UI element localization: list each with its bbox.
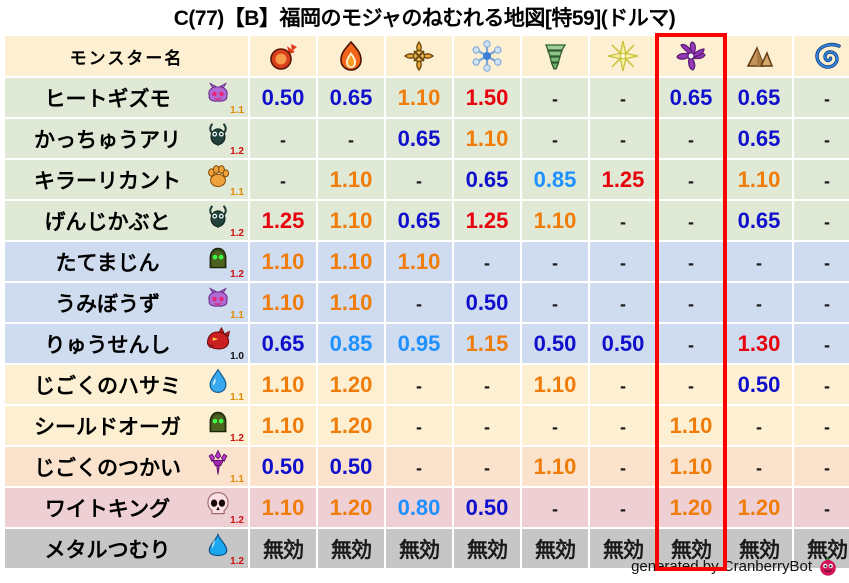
monster-name-cell[interactable]: シールドオーガ1.2 xyxy=(5,406,248,445)
monster-name-label: かっちゅうアリ xyxy=(13,124,202,154)
resistance-cell: 1.10 xyxy=(318,160,384,199)
resistance-value: - xyxy=(620,376,626,396)
resistance-cell: - xyxy=(522,283,588,322)
resistance-cell: 1.15 xyxy=(454,324,520,363)
resistance-cell: - xyxy=(658,283,724,322)
monster-version-label: 1.1 xyxy=(230,188,244,198)
resistance-cell: - xyxy=(250,160,316,199)
resistance-cell: 1.25 xyxy=(590,160,656,199)
monster-badge: 1.0 xyxy=(202,326,244,362)
resistance-value: - xyxy=(620,212,626,232)
resistance-value: - xyxy=(620,294,626,314)
resistance-value: - xyxy=(620,130,626,150)
resistance-cell: 1.10 xyxy=(522,447,588,486)
resistance-value: - xyxy=(280,171,286,191)
resistance-table: モンスター名 ヒートギズモ1.10.500.651.101.50--0.650.… xyxy=(3,34,849,570)
table-row: りゅうせんし1.00.650.850.951.150.500.50-1.30- xyxy=(5,324,849,363)
resistance-cell: 無効 xyxy=(454,529,520,568)
resistance-cell: - xyxy=(522,119,588,158)
resistance-value: - xyxy=(756,458,762,478)
resistance-value: 1.50 xyxy=(466,85,509,110)
table-row: ヒートギズモ1.10.500.651.101.50--0.650.65- xyxy=(5,78,849,117)
resistance-value: 無効 xyxy=(399,539,439,562)
resistance-value: 0.65 xyxy=(330,85,373,110)
monster-name-label: キラーリカント xyxy=(13,165,202,195)
resistance-value: 1.20 xyxy=(330,372,373,397)
resistance-cell: - xyxy=(794,447,849,486)
resistance-cell: - xyxy=(794,160,849,199)
table-body: ヒートギズモ1.10.500.651.101.50--0.650.65-かっちゅ… xyxy=(5,78,849,568)
resistance-cell: - xyxy=(794,119,849,158)
resistance-value: 1.10 xyxy=(330,290,373,315)
monster-name-label: たてまじん xyxy=(13,247,202,277)
resistance-cell: 1.10 xyxy=(250,283,316,322)
resistance-cell: 1.20 xyxy=(318,365,384,404)
resistance-value: - xyxy=(824,89,830,109)
resistance-value: 1.20 xyxy=(330,495,373,520)
resistance-cell: - xyxy=(454,406,520,445)
resistance-value: 0.95 xyxy=(398,331,441,356)
resistance-value: 0.80 xyxy=(398,495,441,520)
resistance-cell: - xyxy=(658,242,724,281)
monster-name-cell[interactable]: かっちゅうアリ1.2 xyxy=(5,119,248,158)
table-header-row: モンスター名 xyxy=(5,36,849,76)
resistance-value: 0.65 xyxy=(670,85,713,110)
resistance-cell: - xyxy=(522,78,588,117)
resistance-cell: 無効 xyxy=(522,529,588,568)
resistance-cell: - xyxy=(794,365,849,404)
monster-version-label: 1.2 xyxy=(230,434,244,444)
resistance-cell: - xyxy=(522,242,588,281)
resistance-cell: 0.65 xyxy=(726,119,792,158)
resistance-value: - xyxy=(552,253,558,273)
resistance-value: - xyxy=(824,417,830,437)
resistance-cell: 1.10 xyxy=(318,283,384,322)
resistance-cell: 1.25 xyxy=(454,201,520,240)
dorma-icon xyxy=(658,40,724,72)
resistance-cell: - xyxy=(794,406,849,445)
resistance-value: - xyxy=(620,417,626,437)
resistance-cell: - xyxy=(726,283,792,322)
monster-badge: 1.2 xyxy=(202,203,244,239)
header-element-tornado-icon[interactable] xyxy=(522,36,588,76)
table-row: かっちゅうアリ1.2--0.651.10---0.65- xyxy=(5,119,849,158)
resistance-cell: 0.50 xyxy=(522,324,588,363)
header-element-dorma-icon[interactable] xyxy=(658,36,724,76)
resistance-cell: 1.10 xyxy=(318,242,384,281)
footer: generated by CranberryBot xyxy=(631,555,839,577)
resistance-value: 1.10 xyxy=(534,208,577,233)
resistance-cell: 1.10 xyxy=(250,488,316,527)
resistance-cell: - xyxy=(794,201,849,240)
resistance-cell: - xyxy=(726,242,792,281)
monster-name-cell[interactable]: メタルつむり1.2 xyxy=(5,529,248,568)
resistance-cell: - xyxy=(794,78,849,117)
resistance-value: - xyxy=(688,294,694,314)
monster-version-label: 1.0 xyxy=(230,352,244,362)
resistance-cell: 0.80 xyxy=(386,488,452,527)
resistance-value: - xyxy=(416,294,422,314)
resistance-value: 0.50 xyxy=(466,495,509,520)
monster-version-label: 1.2 xyxy=(230,270,244,280)
resistance-cell: 0.50 xyxy=(250,447,316,486)
header-element-meteor-icon[interactable] xyxy=(250,36,316,76)
resistance-cell: - xyxy=(590,406,656,445)
resistance-value: 0.50 xyxy=(262,454,305,479)
resistance-cell: 1.20 xyxy=(318,406,384,445)
resistance-cell: - xyxy=(522,488,588,527)
resistance-value: - xyxy=(348,130,354,150)
resistance-value: 1.20 xyxy=(670,495,713,520)
resistance-cell: 1.20 xyxy=(658,488,724,527)
monster-name-label: りゅうせんし xyxy=(13,329,202,359)
resistance-cell: 1.10 xyxy=(522,365,588,404)
resistance-value: - xyxy=(688,171,694,191)
monster-badge: 1.1 xyxy=(202,162,244,198)
resistance-value: - xyxy=(824,171,830,191)
table-row: じごくのつかい1.10.500.50--1.10-1.10-- xyxy=(5,447,849,486)
resistance-value: - xyxy=(824,499,830,519)
resistance-cell: 0.65 xyxy=(250,324,316,363)
monster-version-label: 1.1 xyxy=(230,393,244,403)
resistance-value: 1.10 xyxy=(670,413,713,438)
monster-version-label: 1.2 xyxy=(230,557,244,567)
resistance-value: - xyxy=(416,171,422,191)
resistance-value: 0.65 xyxy=(738,126,781,151)
monster-version-label: 1.1 xyxy=(230,106,244,116)
header-element-explosion-icon[interactable] xyxy=(386,36,452,76)
resistance-value: 1.10 xyxy=(738,167,781,192)
resistance-cell: - xyxy=(794,242,849,281)
header-element-mountain-icon[interactable] xyxy=(726,36,792,76)
resistance-cell: 0.50 xyxy=(454,488,520,527)
resistance-value: - xyxy=(824,458,830,478)
resistance-cell: - xyxy=(590,201,656,240)
table-row: うみぼうず1.11.101.10-0.50----- xyxy=(5,283,849,322)
resistance-value: 0.50 xyxy=(262,85,305,110)
resistance-value: - xyxy=(484,253,490,273)
resistance-value: - xyxy=(552,294,558,314)
resistance-value: 1.15 xyxy=(466,331,509,356)
resistance-cell: 1.50 xyxy=(454,78,520,117)
resistance-value: - xyxy=(824,212,830,232)
resistance-cell: - xyxy=(386,283,452,322)
resistance-cell: 1.10 xyxy=(726,160,792,199)
monster-name-label: メタルつむり xyxy=(13,534,202,564)
resistance-value: 1.10 xyxy=(262,495,305,520)
resistance-value: - xyxy=(688,130,694,150)
resistance-cell: - xyxy=(522,406,588,445)
resistance-cell: 0.50 xyxy=(726,365,792,404)
resistance-value: 1.10 xyxy=(262,249,305,274)
resistance-cell: - xyxy=(658,324,724,363)
monster-name-label: ワイトキング xyxy=(13,493,202,523)
table-row: シールドオーガ1.21.101.20----1.10-- xyxy=(5,406,849,445)
resistance-value: 0.65 xyxy=(398,208,441,233)
resistance-cell: - xyxy=(250,119,316,158)
resistance-value: 0.50 xyxy=(330,454,373,479)
page-title: C(77)【B】福岡のモジャのねむれる地図[特59](ドルマ) xyxy=(0,0,849,34)
resistance-cell: - xyxy=(454,447,520,486)
monster-badge: 1.1 xyxy=(202,285,244,321)
monster-badge: 1.2 xyxy=(202,244,244,280)
resistance-value: 1.10 xyxy=(466,126,509,151)
resistance-value: 0.50 xyxy=(602,331,645,356)
monster-name-label: シールドオーガ xyxy=(13,411,202,441)
resistance-value: 1.10 xyxy=(330,208,373,233)
resistance-cell: - xyxy=(726,406,792,445)
table-header: モンスター名 xyxy=(5,36,849,76)
resistance-cell: 1.20 xyxy=(318,488,384,527)
monster-name-cell[interactable]: じごくのハサミ1.1 xyxy=(5,365,248,404)
tornado-icon xyxy=(522,40,588,72)
resistance-cell: 1.10 xyxy=(250,242,316,281)
resistance-value: - xyxy=(416,417,422,437)
resistance-cell: 0.65 xyxy=(726,78,792,117)
table-row: キラーリカント1.1-1.10-0.650.851.25-1.10- xyxy=(5,160,849,199)
monster-name-cell[interactable]: たてまじん1.2 xyxy=(5,242,248,281)
resistance-cell: 0.65 xyxy=(726,201,792,240)
resistance-cell: 0.65 xyxy=(386,119,452,158)
resistance-value: 無効 xyxy=(263,539,303,562)
header-element-light-star-icon[interactable] xyxy=(590,36,656,76)
monster-version-label: 1.1 xyxy=(230,475,244,485)
monster-name-label: げんじかぶと xyxy=(13,206,202,236)
cranberry-icon xyxy=(817,555,839,577)
resistance-cell: 0.65 xyxy=(454,160,520,199)
monster-badge: 1.1 xyxy=(202,367,244,403)
resistance-value: - xyxy=(552,89,558,109)
resistance-cell: 1.10 xyxy=(454,119,520,158)
monster-name-cell[interactable]: うみぼうず1.1 xyxy=(5,283,248,322)
header-monster-name: モンスター名 xyxy=(5,36,248,76)
resistance-value: - xyxy=(620,89,626,109)
resistance-value: 1.30 xyxy=(738,331,781,356)
resistance-table-container: モンスター名 ヒートギズモ1.10.500.651.101.50--0.650.… xyxy=(0,34,849,570)
resistance-value: - xyxy=(688,253,694,273)
resistance-value: - xyxy=(484,458,490,478)
resistance-cell: - xyxy=(454,365,520,404)
resistance-value: 1.20 xyxy=(738,495,781,520)
monster-name-cell[interactable]: げんじかぶと1.2 xyxy=(5,201,248,240)
resistance-value: - xyxy=(484,376,490,396)
resistance-cell: 0.85 xyxy=(318,324,384,363)
resistance-cell: 0.50 xyxy=(454,283,520,322)
resistance-cell: - xyxy=(726,447,792,486)
resistance-value: 0.50 xyxy=(466,290,509,315)
resistance-value: 1.10 xyxy=(398,249,441,274)
resistance-cell: - xyxy=(794,488,849,527)
resistance-value: 1.10 xyxy=(330,167,373,192)
resistance-value: 0.65 xyxy=(466,167,509,192)
light-star-icon xyxy=(590,40,656,72)
resistance-value: - xyxy=(824,130,830,150)
table-row: げんじかぶと1.21.251.100.651.251.10--0.65- xyxy=(5,201,849,240)
resistance-value: 1.10 xyxy=(534,454,577,479)
resistance-value: 0.65 xyxy=(398,126,441,151)
resistance-value: 0.85 xyxy=(330,331,373,356)
resistance-cell: 1.10 xyxy=(386,242,452,281)
resistance-cell: - xyxy=(658,201,724,240)
header-element-flame-icon[interactable] xyxy=(318,36,384,76)
resistance-value: 無効 xyxy=(535,539,575,562)
resistance-value: - xyxy=(756,417,762,437)
resistance-cell: - xyxy=(658,365,724,404)
resistance-cell: 1.25 xyxy=(250,201,316,240)
resistance-cell: - xyxy=(794,283,849,322)
resistance-value: 1.10 xyxy=(262,372,305,397)
resistance-value: - xyxy=(688,376,694,396)
header-element-wave-icon[interactable] xyxy=(794,36,849,76)
resistance-value: - xyxy=(824,376,830,396)
resistance-cell: - xyxy=(658,119,724,158)
resistance-cell: - xyxy=(590,488,656,527)
resistance-value: 1.10 xyxy=(262,413,305,438)
resistance-value: 1.25 xyxy=(262,208,305,233)
monster-version-label: 1.2 xyxy=(230,147,244,157)
resistance-cell: 0.50 xyxy=(250,78,316,117)
resistance-value: 0.65 xyxy=(738,208,781,233)
explosion-icon xyxy=(386,40,452,72)
resistance-cell: 無効 xyxy=(318,529,384,568)
resistance-cell: 1.10 xyxy=(522,201,588,240)
resistance-cell: 0.50 xyxy=(590,324,656,363)
resistance-cell: 1.10 xyxy=(318,201,384,240)
resistance-cell: 1.10 xyxy=(250,406,316,445)
resistance-value: - xyxy=(824,253,830,273)
resistance-value: 1.10 xyxy=(534,372,577,397)
table-row: たてまじん1.21.101.101.10------ xyxy=(5,242,849,281)
monster-name-cell[interactable]: じごくのつかい1.1 xyxy=(5,447,248,486)
resistance-value: - xyxy=(688,335,694,355)
mountain-icon xyxy=(726,40,792,72)
resistance-cell: 0.65 xyxy=(386,201,452,240)
resistance-value: - xyxy=(416,376,422,396)
resistance-value: - xyxy=(824,294,830,314)
monster-name-label: ヒートギズモ xyxy=(13,83,202,113)
resistance-value: - xyxy=(620,458,626,478)
resistance-cell: 0.85 xyxy=(522,160,588,199)
resistance-cell: - xyxy=(386,365,452,404)
monster-badge: 1.2 xyxy=(202,408,244,444)
table-row: じごくのハサミ1.11.101.20--1.10--0.50- xyxy=(5,365,849,404)
resistance-cell: 1.10 xyxy=(250,365,316,404)
resistance-cell: 1.10 xyxy=(386,78,452,117)
resistance-cell: - xyxy=(386,160,452,199)
monster-version-label: 1.1 xyxy=(230,311,244,321)
monster-name-cell[interactable]: ヒートギズモ1.1 xyxy=(5,78,248,117)
resistance-value: - xyxy=(688,212,694,232)
resistance-cell: - xyxy=(590,78,656,117)
resistance-cell: - xyxy=(590,365,656,404)
resistance-cell: 0.65 xyxy=(318,78,384,117)
resistance-value: - xyxy=(552,499,558,519)
resistance-value: 0.65 xyxy=(262,331,305,356)
resistance-cell: 1.10 xyxy=(658,406,724,445)
resistance-cell: - xyxy=(590,242,656,281)
resistance-cell: - xyxy=(590,447,656,486)
resistance-value: - xyxy=(620,253,626,273)
resistance-cell: - xyxy=(454,242,520,281)
resistance-value: 0.85 xyxy=(534,167,577,192)
resistance-value: - xyxy=(280,130,286,150)
resistance-value: 1.10 xyxy=(670,454,713,479)
monster-name-cell[interactable]: キラーリカント1.1 xyxy=(5,160,248,199)
resistance-value: - xyxy=(552,130,558,150)
resistance-cell: - xyxy=(590,119,656,158)
resistance-cell: 1.10 xyxy=(658,447,724,486)
monster-name-label: じごくのつかい xyxy=(13,452,202,482)
resistance-cell: 無効 xyxy=(386,529,452,568)
resistance-value: - xyxy=(756,253,762,273)
resistance-cell: 0.50 xyxy=(318,447,384,486)
resistance-value: - xyxy=(416,458,422,478)
monster-badge: 1.2 xyxy=(202,121,244,157)
flame-icon xyxy=(318,40,384,72)
resistance-cell: 1.30 xyxy=(726,324,792,363)
resistance-value: 無効 xyxy=(467,539,507,562)
wave-icon xyxy=(794,40,849,72)
resistance-value: 1.20 xyxy=(330,413,373,438)
resistance-value: 1.10 xyxy=(398,85,441,110)
resistance-value: 0.50 xyxy=(534,331,577,356)
resistance-cell: 0.95 xyxy=(386,324,452,363)
resistance-cell: - xyxy=(794,324,849,363)
monster-name-cell[interactable]: ワイトキング1.2 xyxy=(5,488,248,527)
resistance-value: - xyxy=(620,499,626,519)
monster-badge: 1.2 xyxy=(202,490,244,526)
resistance-cell: 無効 xyxy=(250,529,316,568)
header-element-snowflake-icon[interactable] xyxy=(454,36,520,76)
resistance-value: 1.10 xyxy=(330,249,373,274)
resistance-value: - xyxy=(824,335,830,355)
resistance-cell: - xyxy=(658,160,724,199)
resistance-cell: - xyxy=(386,447,452,486)
monster-name-label: じごくのハサミ xyxy=(13,370,202,400)
resistance-value: - xyxy=(552,417,558,437)
table-row: ワイトキング1.21.101.200.800.50--1.201.20- xyxy=(5,488,849,527)
resistance-value: 0.50 xyxy=(738,372,781,397)
resistance-cell: - xyxy=(590,283,656,322)
resistance-value: - xyxy=(484,417,490,437)
monster-name-cell[interactable]: りゅうせんし1.0 xyxy=(5,324,248,363)
monster-version-label: 1.2 xyxy=(230,516,244,526)
meteor-icon xyxy=(250,40,316,72)
resistance-value: 1.25 xyxy=(466,208,509,233)
resistance-value: 1.10 xyxy=(262,290,305,315)
footer-text: generated by CranberryBot xyxy=(631,558,812,575)
monster-badge: 1.1 xyxy=(202,80,244,116)
resistance-value: 1.25 xyxy=(602,167,645,192)
monster-version-label: 1.2 xyxy=(230,229,244,239)
resistance-cell: 0.65 xyxy=(658,78,724,117)
monster-badge: 1.1 xyxy=(202,449,244,485)
resistance-cell: - xyxy=(318,119,384,158)
monster-badge: 1.2 xyxy=(202,531,244,567)
resistance-value: 無効 xyxy=(331,539,371,562)
resistance-value: - xyxy=(756,294,762,314)
resistance-value: 0.65 xyxy=(738,85,781,110)
resistance-cell: - xyxy=(386,406,452,445)
snowflake-icon xyxy=(454,40,520,72)
resistance-cell: 1.20 xyxy=(726,488,792,527)
monster-name-label: うみぼうず xyxy=(13,288,202,318)
